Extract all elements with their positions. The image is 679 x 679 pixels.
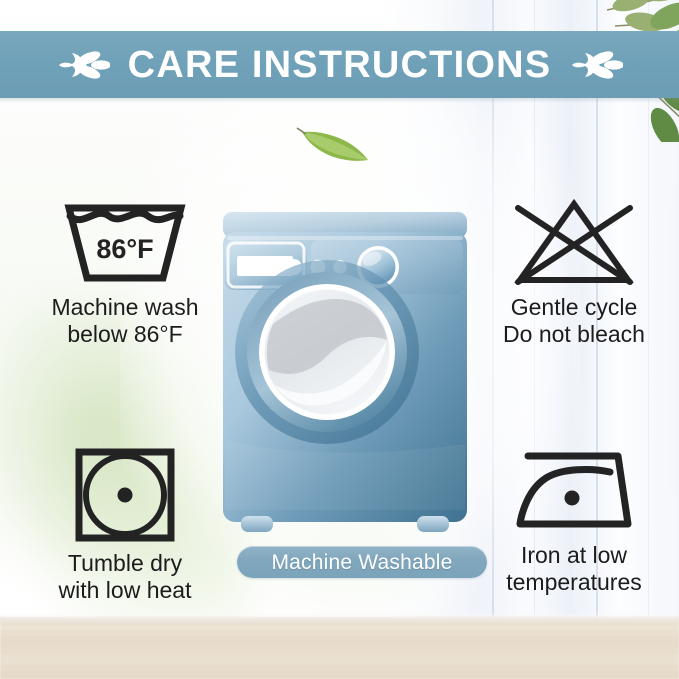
- care-symbol-caption: Gentle cycle Do not bleach: [503, 294, 645, 347]
- machine-washable-badge: Machine Washable: [237, 546, 487, 578]
- care-symbol-iron: Iron at low temperatures: [470, 446, 678, 595]
- heat-level-dot: [118, 488, 133, 503]
- heat-level-dot: [565, 491, 580, 506]
- fleur-de-lis-icon: [569, 45, 623, 85]
- care-symbol-caption: Machine wash below 86°F: [51, 294, 198, 347]
- banner-drop-shadow: [0, 98, 679, 103]
- washer-foot: [417, 516, 449, 532]
- washing-machine-illustration: [215, 200, 475, 550]
- wash-tub-icon: 86°F: [59, 196, 191, 288]
- wood-table-edge-highlight: [0, 615, 679, 623]
- header-banner: CARE INSTRUCTIONS: [0, 31, 679, 98]
- iron-one-dot-icon: [506, 446, 642, 536]
- care-symbol-caption: Tumble dry with low heat: [59, 550, 192, 603]
- washer-foot: [241, 516, 273, 532]
- care-symbol-wash: 86°F Machine wash below 86°F: [20, 196, 230, 347]
- wash-temperature-value: 86°F: [96, 234, 153, 264]
- tumble-dry-one-dot-icon: [71, 446, 179, 544]
- care-symbol-tumble-dry: Tumble dry with low heat: [20, 446, 230, 603]
- page-title: CARE INSTRUCTIONS: [128, 46, 552, 84]
- care-symbol-bleach: Gentle cycle Do not bleach: [470, 196, 678, 347]
- floating-leaf-icon: [296, 120, 374, 166]
- wood-grain-texture: [0, 617, 679, 679]
- badge-label: Machine Washable: [271, 552, 452, 573]
- care-symbol-caption: Iron at low temperatures: [506, 542, 642, 595]
- fleur-de-lis-icon: [56, 45, 110, 85]
- triangle-crossed-out-icon: [504, 196, 644, 288]
- care-instructions-infographic: CARE INSTRUCTIONS: [0, 0, 679, 679]
